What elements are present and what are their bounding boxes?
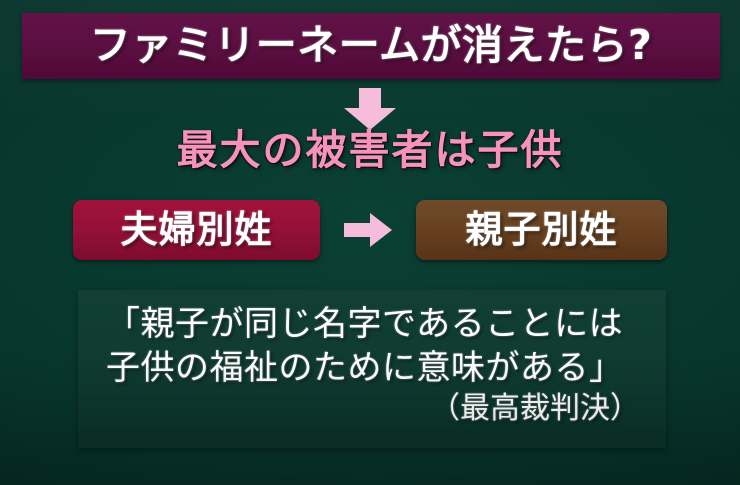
- quote-attribution: （最高裁判決）: [106, 390, 646, 428]
- slide-canvas: ファミリーネームが消えたら? 最大の被害者は子供 夫婦別姓 親子別姓 「親子が同…: [0, 0, 740, 485]
- chip-right-label: 親子別姓: [466, 211, 618, 248]
- arrow-down-icon: [338, 88, 402, 130]
- subtitle-text: 最大の被害者は子供: [0, 128, 740, 173]
- title-banner: ファミリーネームが消えたら?: [22, 13, 720, 79]
- chip-left-label: 夫婦別姓: [121, 211, 273, 248]
- comparison-row: 夫婦別姓 親子別姓: [0, 199, 740, 261]
- quote-panel: 「親子が同じ名字であることには 子供の福祉のために意味がある」 （最高裁判決）: [78, 290, 666, 448]
- chip-oyako-besshi: 親子別姓: [416, 200, 667, 260]
- arrow-right-icon: [344, 213, 392, 247]
- page-title: ファミリーネームが消えたら?: [90, 25, 653, 66]
- quote-line-1: 「親子が同じ名字であることには: [106, 302, 646, 346]
- quote-line-2: 子供の福祉のために意味がある」: [106, 346, 646, 390]
- chip-fufu-besshi: 夫婦別姓: [73, 200, 320, 260]
